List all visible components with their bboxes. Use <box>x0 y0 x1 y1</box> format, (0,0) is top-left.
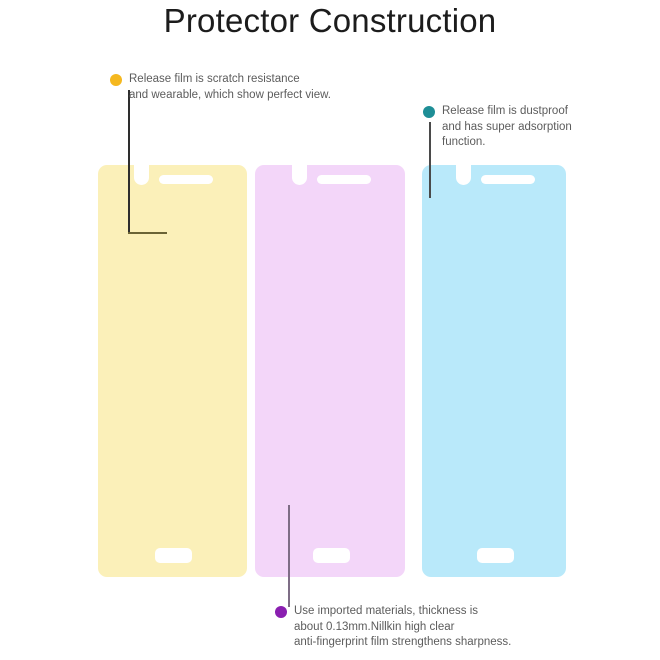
home-button-cutout-icon <box>477 548 514 563</box>
camera-cutout-icon <box>456 165 471 185</box>
yellow-protector-film <box>98 165 247 577</box>
annotation-purple-text: Use imported materials, thickness is abo… <box>294 604 605 651</box>
bullet-purple-icon <box>275 606 287 618</box>
annotation-yellow-text: Release film is scratch resistance and w… <box>129 72 360 103</box>
annotation-purple: Use imported materials, thickness is abo… <box>275 604 605 651</box>
home-button-cutout-icon <box>155 548 192 563</box>
speaker-cutout-icon <box>317 175 371 184</box>
annotation-yellow: Release film is scratch resistance and w… <box>110 72 360 103</box>
camera-cutout-icon <box>134 165 149 185</box>
speaker-cutout-icon <box>159 175 213 184</box>
home-button-cutout-icon <box>313 548 350 563</box>
bullet-teal-icon <box>423 106 435 118</box>
page-title: Protector Construction <box>0 2 660 40</box>
leader-line-yellow-vertical <box>128 90 130 234</box>
camera-cutout-icon <box>292 165 307 185</box>
annotation-teal-text: Release film is dustproof and has super … <box>442 104 638 151</box>
infographic-canvas: Protector Construction Release film is s… <box>0 0 660 660</box>
leader-line-yellow-horizontal <box>128 232 167 234</box>
bullet-yellow-icon <box>110 74 122 86</box>
blue-protector-film <box>422 165 566 577</box>
annotation-teal: Release film is dustproof and has super … <box>423 104 638 151</box>
leader-line-purple <box>288 505 290 607</box>
pink-protector-film <box>255 165 405 577</box>
speaker-cutout-icon <box>481 175 535 184</box>
